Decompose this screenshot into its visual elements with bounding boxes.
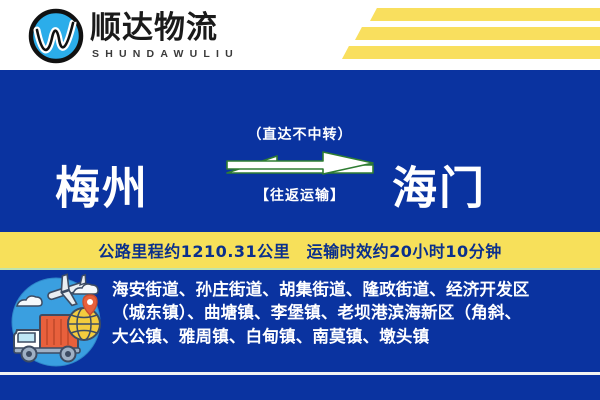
logistics-truck-plane-globe-icon [0, 270, 112, 372]
route-note-bottom: 【往返运输】 [222, 189, 378, 203]
origin-city: 梅州 [55, 166, 149, 211]
distance-duration-text: 公路里程约1210.31公里 运输时效约20小时10分钟 [98, 238, 501, 262]
destination-city: 海门 [392, 166, 486, 211]
decorative-stripes [340, 6, 600, 64]
brand-name-cn: 顺达物流 [90, 12, 239, 45]
distance-duration-bar: 公路里程约1210.31公里 运输时效约20小时10分钟 [0, 232, 600, 270]
route-band: 梅州 （直达不中转） 【往返运输】 海门 [0, 70, 600, 230]
route-note-top: （直达不中转） [222, 128, 378, 142]
shipping-route-poster: 顺达物流 SHUNDAWULIU 梅州 （直达不中转） 【往返运输】 海门 [0, 0, 600, 400]
footer-band [0, 375, 600, 400]
brand-text: 顺达物流 SHUNDAWULIU [90, 12, 239, 60]
header: 顺达物流 SHUNDAWULIU [0, 0, 600, 70]
stripe-3 [342, 46, 600, 59]
coverage-section: 海安街道、孙庄街道、胡集街道、隆政街道、经济开发区 （城东镇）、曲塘镇、李堡镇、… [0, 270, 600, 372]
coverage-line: （城东镇）、曲塘镇、李堡镇、老坝港滨海新区（角斜、 [112, 301, 586, 324]
brand-logo: 顺达物流 SHUNDAWULIU [28, 8, 239, 64]
stripe-1 [370, 8, 600, 21]
stripe-2 [355, 27, 600, 40]
route-middle: （直达不中转） 【往返运输】 [222, 128, 378, 203]
coverage-area-list: 海安街道、孙庄街道、胡集街道、隆政街道、经济开发区 （城东镇）、曲塘镇、李堡镇、… [112, 270, 600, 348]
coverage-line: 大公镇、雅周镇、白甸镇、南莫镇、墩头镇 [112, 325, 586, 348]
brand-name-en: SHUNDAWULIU [92, 48, 239, 60]
circle-w-brush-logo-icon [28, 8, 84, 64]
coverage-line: 海安街道、孙庄街道、胡集街道、隆政街道、经济开发区 [112, 278, 586, 301]
double-headed-arrow-icon [225, 151, 375, 183]
